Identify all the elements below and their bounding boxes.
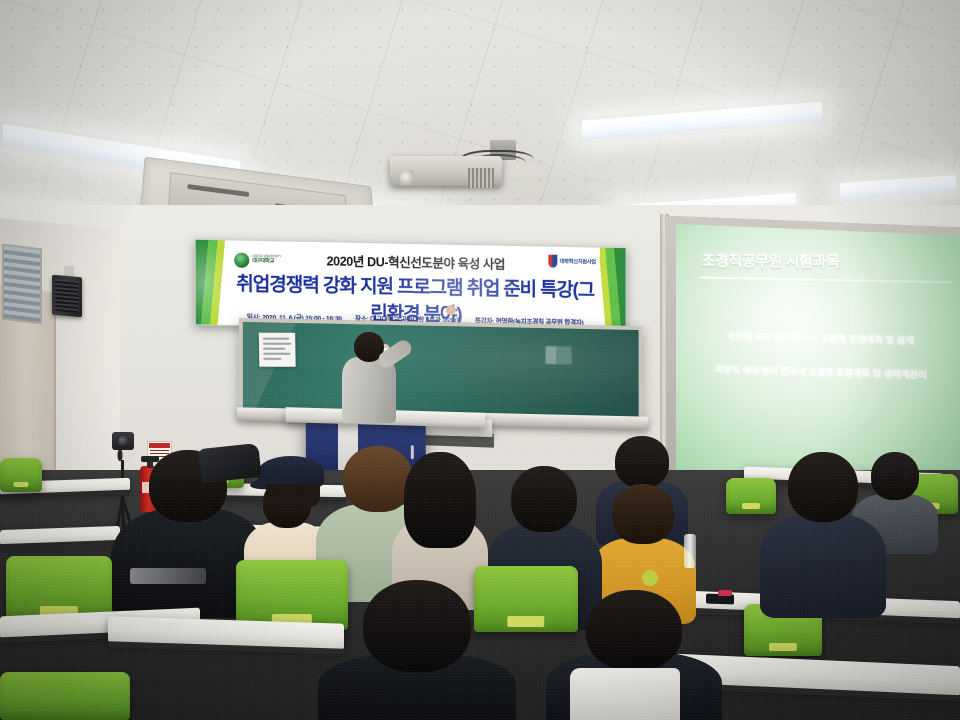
student-foreground-black-jacket bbox=[318, 580, 516, 720]
chalkboard bbox=[243, 322, 639, 418]
water-bottle bbox=[684, 534, 696, 568]
banner-left-graphic bbox=[196, 240, 230, 325]
white-bag-on-chair bbox=[570, 668, 680, 720]
hair-under-cap bbox=[266, 484, 320, 510]
chalkboard-frame bbox=[239, 318, 643, 422]
desk bbox=[0, 526, 120, 545]
banner-right-graphic bbox=[600, 248, 626, 332]
classroom-photo-scene: DAEGU UNIVERSITY 대구대학교 대학혁신지원사업 2020년 DU… bbox=[0, 0, 960, 720]
posted-paper-notice bbox=[259, 333, 296, 367]
door-window bbox=[2, 244, 42, 325]
speaker-grille bbox=[55, 279, 78, 313]
wall-speaker bbox=[52, 275, 82, 318]
lecturer-writing-on-board bbox=[334, 332, 406, 424]
student-charcoal-jacket bbox=[760, 452, 886, 614]
projector-vent bbox=[468, 168, 494, 188]
ceiling-projector bbox=[446, 148, 558, 188]
sweater-badge bbox=[642, 570, 658, 586]
projector-lens bbox=[400, 170, 414, 186]
jacket-logo bbox=[130, 568, 206, 584]
projector-body bbox=[390, 156, 502, 186]
chalk-dust bbox=[243, 322, 639, 418]
chair[interactable] bbox=[0, 458, 42, 492]
slide-title: 조경직공무원 시험과목 bbox=[702, 250, 840, 272]
chalk-writing bbox=[546, 346, 605, 365]
video-camera bbox=[112, 432, 134, 450]
chair[interactable] bbox=[0, 672, 130, 720]
black-bag-on-chair bbox=[198, 443, 261, 483]
